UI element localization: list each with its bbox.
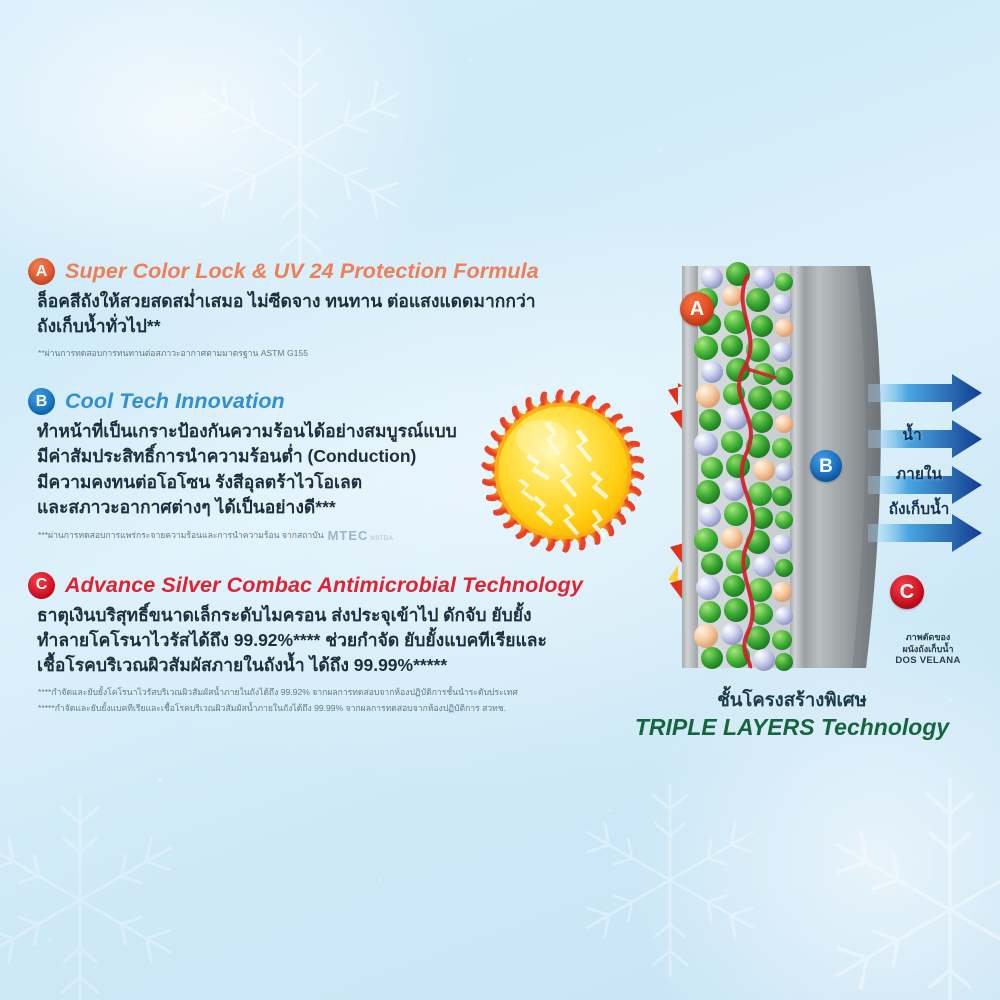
cross-section-caption-line-2: ผนังถังเก็บน้ำ — [878, 644, 978, 656]
feature-c-title: Advance Silver Combac Antimicrobial Tech… — [65, 573, 583, 598]
cross-section-caption: ภาพตัดของ ผนังถังเก็บน้ำ DOS VELANA — [878, 632, 978, 668]
water-label-line-3: ถังเก็บน้ำ — [866, 501, 972, 519]
feature-a-header: A Super Color Lock & UV 24 Protection Fo… — [28, 258, 638, 285]
feature-a-footnote-1: **ผ่านการทดสอบการทนทานต่อสภาวะอากาศตามมา… — [38, 347, 638, 360]
feature-c-header: C Advance Silver Combac Antimicrobial Te… — [28, 572, 638, 599]
feature-c-line-1: ธาตุเงินบริสุทธิ์ขนาดเล็กระดับไมครอน ส่ง… — [37, 603, 638, 628]
snowflake-decor-top-left — [170, 20, 430, 280]
feature-c-line-2: ทำลายโคโรนาไวรัสได้ถึง 99.92%**** ช่วยกำ… — [37, 628, 638, 653]
mtec-logo-icon: MTEC NSTDA — [328, 526, 394, 546]
bottom-caption-thai: ชั้นโครงสร้างพิเศษ — [612, 688, 972, 711]
mtec-logo-sub: NSTDA — [370, 535, 393, 544]
badge-b-icon: B — [28, 388, 55, 415]
feature-b-footnote-1: ***ผ่านการทดสอบการแพร่กระจายความร้อนและก… — [38, 529, 324, 542]
bottom-caption: ชั้นโครงสร้างพิเศษ TRIPLE LAYERS Technol… — [612, 688, 972, 742]
feature-c-body: ธาตุเงินบริสุทธิ์ขนาดเล็กระดับไมครอน ส่ง… — [37, 603, 638, 679]
mtec-logo-main: MTEC — [328, 526, 369, 546]
feature-c-footnote-1: ****กำจัดและยับยั้งโคโรนาไวรัสบริเวณผิวส… — [38, 686, 638, 699]
feature-a-body: ล็อคสีถังให้สวยสดสม่ำเสมอ ไม่ซีดจาง ทนทา… — [37, 289, 638, 339]
water-label-line-2: ภายใน — [876, 466, 962, 484]
cross-section-caption-line-1: ภาพตัดของ — [878, 632, 978, 644]
diagram-badge-a: A — [680, 292, 714, 326]
snowflake-decor-bottom-right — [800, 760, 1000, 1000]
feature-a-line-2: ถังเก็บน้ำทั่วไป** — [37, 314, 638, 339]
diagram-badge-c: C — [890, 575, 924, 609]
cross-section-caption-line-3: DOS VELANA — [878, 655, 978, 667]
diagram-badge-b: B — [810, 450, 842, 482]
sun-icon — [468, 376, 658, 566]
bottom-caption-english: TRIPLE LAYERS Technology — [612, 713, 972, 742]
snowflake-decor-bottom-center — [560, 770, 780, 990]
feature-b-title: Cool Tech Innovation — [65, 389, 285, 414]
feature-c-footnote-2: *****กำจัดและยับยั้งแบคทีเรียและเชื้อโรค… — [38, 702, 638, 715]
badge-a-icon: A — [28, 258, 55, 285]
water-label-line-1: น้ำ — [880, 427, 944, 445]
snowflake-decor-bottom-left — [0, 780, 200, 1000]
feature-a-title: Super Color Lock & UV 24 Protection Form… — [65, 259, 539, 284]
feature-a-line-1: ล็อคสีถังให้สวยสดสม่ำเสมอ ไม่ซีดจาง ทนทา… — [37, 289, 638, 314]
badge-c-icon: C — [28, 572, 55, 599]
feature-c-line-3: เชื้อโรคบริเวณผิวสัมผัสภายในถังน้ำ ได้ถึ… — [37, 653, 638, 678]
feature-block-a: A Super Color Lock & UV 24 Protection Fo… — [28, 258, 638, 360]
feature-block-c: C Advance Silver Combac Antimicrobial Te… — [28, 572, 638, 715]
infographic-canvas: A Super Color Lock & UV 24 Protection Fo… — [0, 0, 1000, 1000]
